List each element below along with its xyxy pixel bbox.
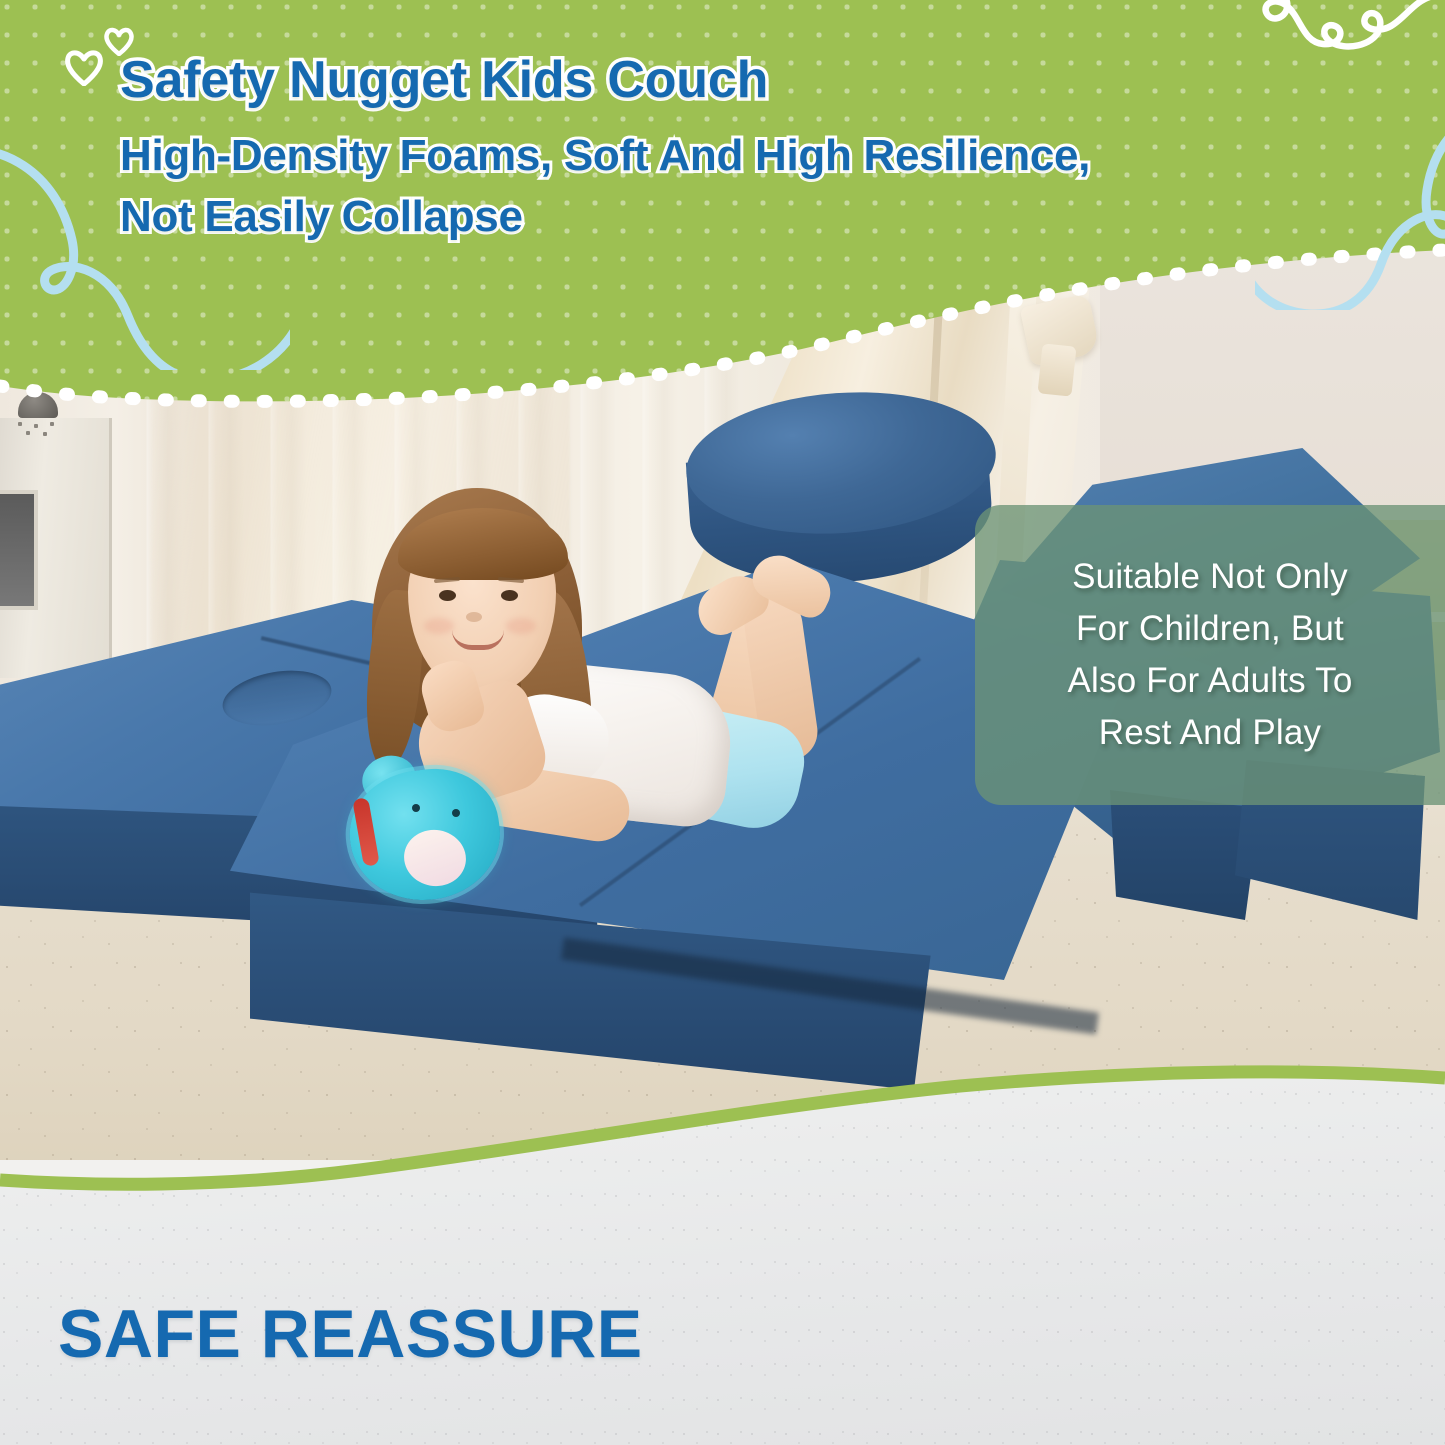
header-subtitle: High-Density Foams, Soft And High Resili…: [120, 126, 1320, 247]
child-nose: [466, 612, 482, 622]
child-eye-right: [501, 590, 518, 601]
child-cheek-left: [424, 618, 454, 634]
header-subtitle-line-1: High-Density Foams, Soft And High Resili…: [120, 126, 1320, 187]
safe-reassure-label: SAFE REASSURE: [58, 1295, 643, 1373]
callout-line-4: Rest And Play: [1099, 707, 1321, 759]
child-cheek-right: [506, 618, 536, 634]
header-subtitle-line-2: Not Easily Collapse: [120, 187, 1320, 248]
page-title: Safety Nugget Kids Couch: [120, 54, 1320, 106]
callout-line-1: Suitable Not Only: [1072, 551, 1348, 603]
plush-toy-eye-right: [452, 809, 460, 817]
green-curve-divider: [0, 1020, 1445, 1445]
callout-line-3: Also For Adults To: [1067, 655, 1352, 707]
callout-line-2: For Children, But: [1076, 603, 1344, 655]
cabinet-panel: [0, 490, 38, 610]
callout-box: Suitable Not Only For Children, But Also…: [975, 505, 1445, 805]
plush-toy-eye-left: [412, 804, 420, 812]
child-eye-left: [439, 590, 456, 601]
product-poster: Safety Nugget Kids Couch High-Density Fo…: [0, 0, 1445, 1445]
child-model: [300, 470, 760, 830]
heart-icon: [64, 48, 104, 86]
header-text-block: Safety Nugget Kids Couch High-Density Fo…: [120, 54, 1320, 247]
bottom-foam-photo: SAFE REASSURE: [0, 1020, 1445, 1445]
